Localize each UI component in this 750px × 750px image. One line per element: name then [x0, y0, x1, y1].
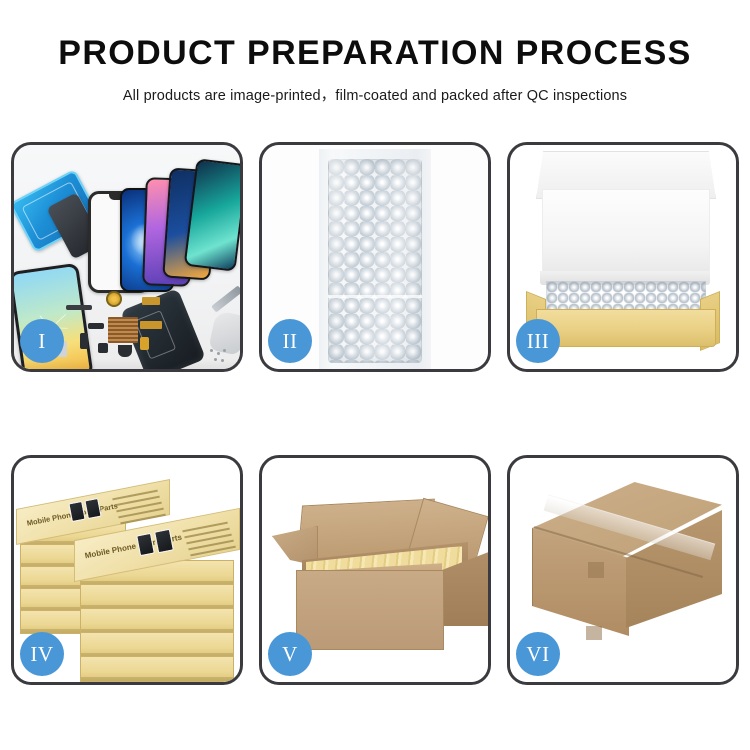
- kraft-box-front-icon: [536, 309, 716, 347]
- page-subtitle: All products are image-printed，film-coat…: [0, 84, 750, 105]
- foam-sheet-icon: [542, 189, 710, 275]
- process-panel-2[interactable]: II: [259, 142, 491, 372]
- carton-mark-upper: [588, 562, 604, 578]
- stack-box: [80, 656, 234, 682]
- speaker-coil-icon: [106, 291, 122, 307]
- earpiece-part-icon: [66, 305, 92, 310]
- process-panel-1[interactable]: I: [11, 142, 243, 372]
- panel-3-badge: III: [516, 319, 560, 363]
- page-title: PRODUCT PREPARATION PROCESS: [0, 36, 750, 72]
- stack-box: [80, 632, 234, 658]
- process-panel-4[interactable]: Mobile Phone Spare Parts Mobile Phone Sp…: [11, 455, 243, 685]
- battery-connector-icon: [140, 337, 149, 350]
- shield-grid-icon: [108, 317, 138, 343]
- open-carton-icon: [296, 570, 444, 650]
- small-bracket-icon: [80, 333, 88, 349]
- process-panel-grid: I II III: [11, 142, 739, 685]
- stack-box: [80, 584, 234, 610]
- process-panel-3[interactable]: III: [507, 142, 739, 372]
- panel-4-badge: IV: [20, 632, 64, 676]
- chip-icon: [88, 323, 104, 329]
- panel-2-badge: II: [268, 319, 312, 363]
- panel-1-badge: I: [20, 319, 64, 363]
- carton-mark-lower: [586, 626, 602, 640]
- process-panel-5[interactable]: V: [259, 455, 491, 685]
- flex-connector-icon: [140, 321, 162, 329]
- bubble-wrap-pack-icon: [328, 159, 422, 363]
- camera-module-icon: [98, 343, 108, 353]
- flex-cable-icon: [142, 297, 160, 305]
- panel-5-badge: V: [268, 632, 312, 676]
- process-panel-6[interactable]: VI: [507, 455, 739, 685]
- speaker-module-icon: [118, 345, 132, 357]
- panel-6-badge: VI: [516, 632, 560, 676]
- bubble-wrap-seam: [328, 295, 422, 298]
- stack-box: [80, 608, 234, 634]
- page-header: PRODUCT PREPARATION PROCESS All products…: [0, 0, 750, 105]
